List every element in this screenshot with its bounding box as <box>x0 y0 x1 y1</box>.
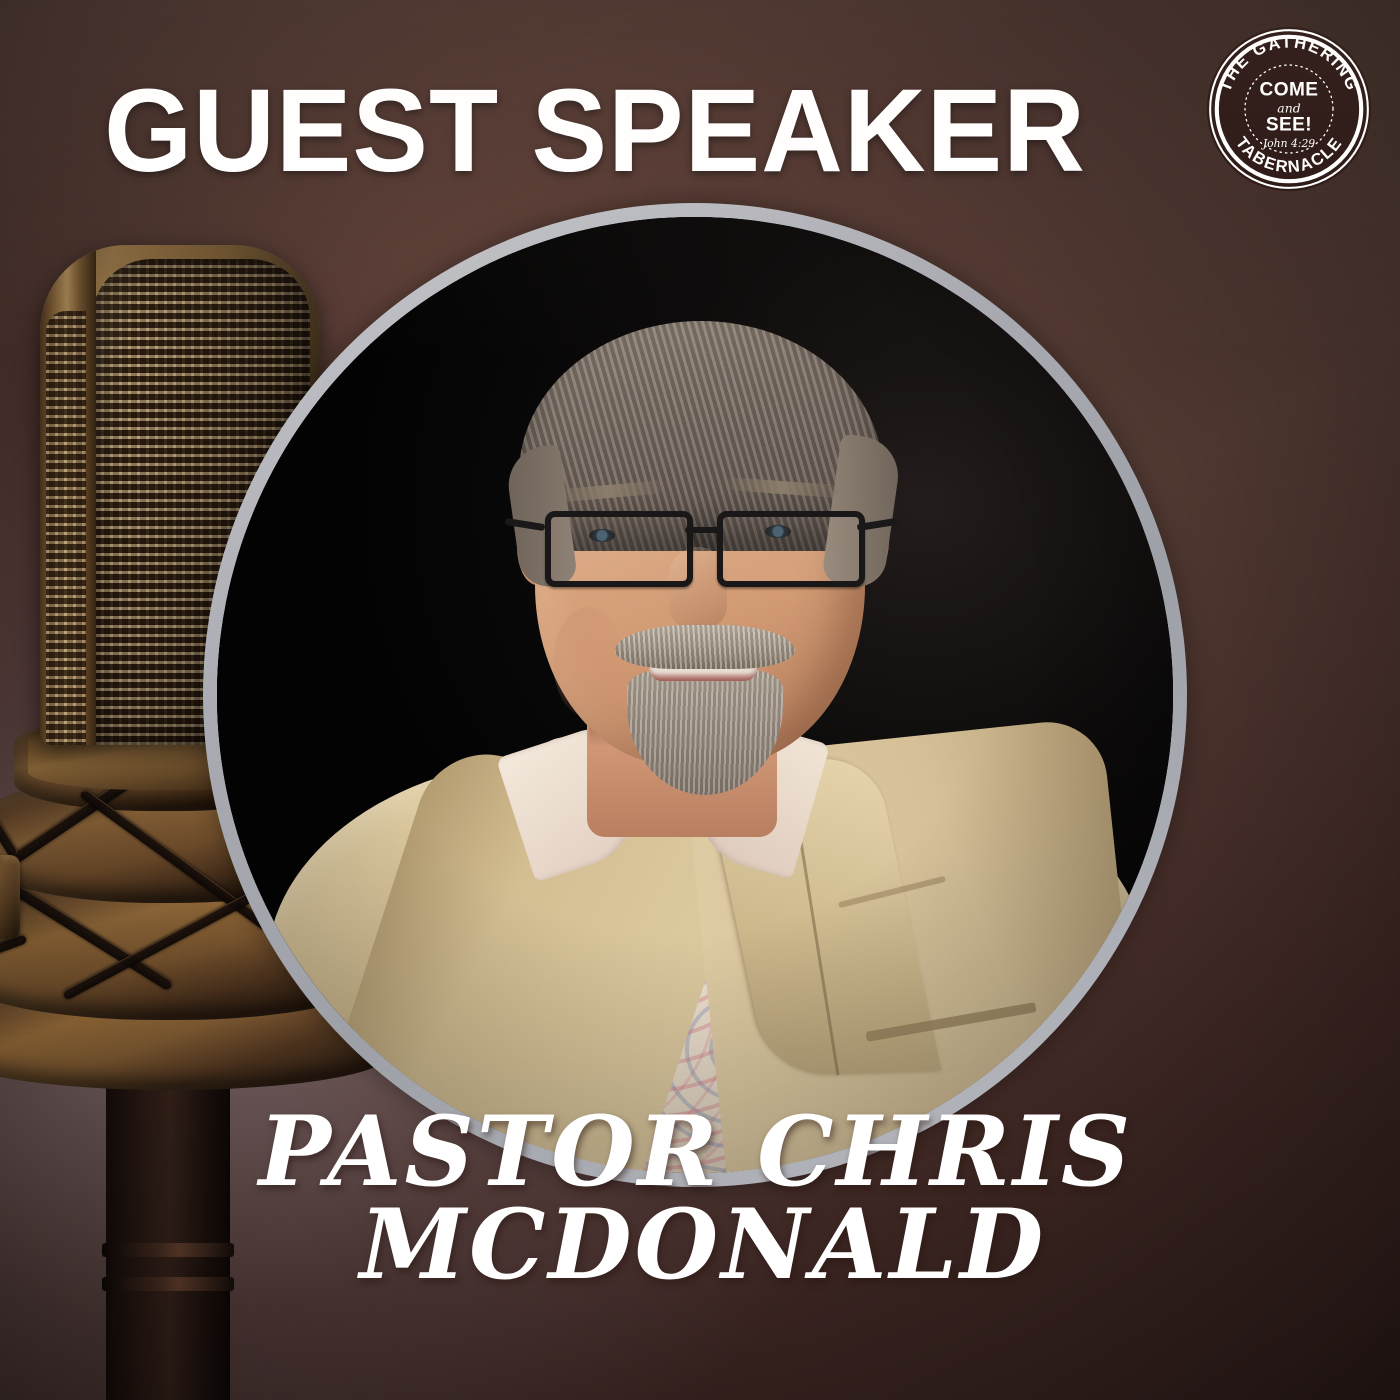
portrait-subject <box>217 217 1173 1173</box>
guest-speaker-portrait <box>217 217 1173 1173</box>
eyeglass-lens-left <box>545 511 693 587</box>
portrait-ring <box>203 203 1187 1187</box>
eyeglasses <box>539 503 865 587</box>
speaker-name-line-2: MCDONALD <box>6 1198 1400 1291</box>
speaker-name-line-1: PASTOR CHRIS <box>0 1105 1400 1198</box>
speaker-name: PASTOR CHRIS MCDONALD <box>0 1105 1400 1291</box>
logo-center-line-1: COME <box>1260 80 1319 101</box>
cheek-shading <box>553 607 623 717</box>
eyeglass-lens-right <box>717 511 865 587</box>
logo-center-line-4: John 4:29 <box>1261 137 1315 150</box>
guest-speaker-poster: GUEST SPEAKER PASTOR CHRIS MCDONALD THE … <box>0 0 1400 1400</box>
mustache <box>615 625 795 669</box>
church-logo-badge: THE GATHERING TABERNACLE COME and SEE! J… <box>1206 26 1372 192</box>
page-title: GUEST SPEAKER <box>24 72 1166 190</box>
logo-center-line-3: SEE! <box>1266 115 1312 136</box>
logo-center-line-2: and <box>1277 100 1300 115</box>
